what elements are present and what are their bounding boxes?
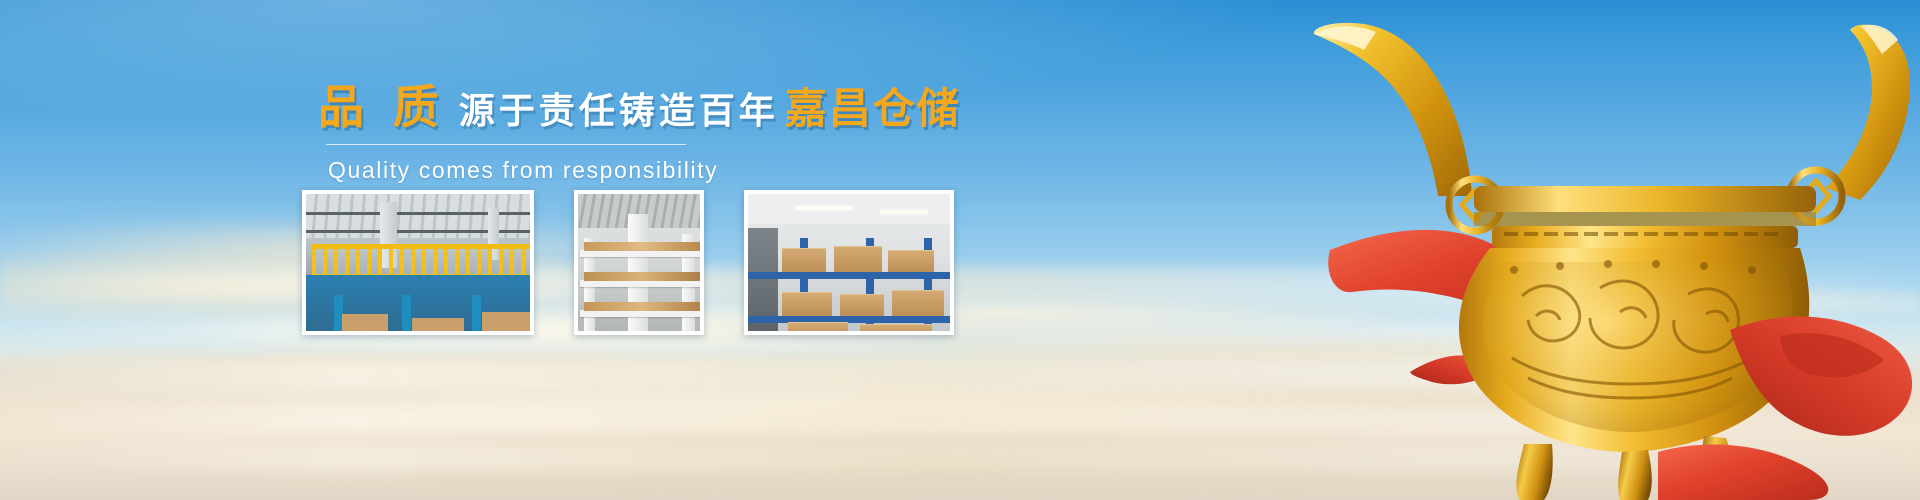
cantilever-arm	[580, 310, 704, 317]
carton	[840, 294, 884, 316]
ceiling-light	[880, 210, 928, 214]
ding-rim	[1474, 186, 1816, 212]
rack-post	[472, 295, 481, 335]
cantilever-arm	[580, 280, 704, 287]
photo-warehouse-mezzanine[interactable]	[302, 190, 534, 335]
cantilever-arm	[580, 250, 704, 257]
carton	[888, 250, 934, 272]
headline-main: 源于责任铸造百年	[459, 93, 779, 129]
hero-banner: 品 质 源于责任铸造百年 嘉昌仓储 Quality comes from res…	[0, 0, 1920, 500]
red-silk-ribbon	[1658, 445, 1828, 500]
stored-load	[584, 272, 700, 281]
headline-row: 品 质 源于责任铸造百年 嘉昌仓储	[318, 84, 1018, 130]
stored-load	[584, 302, 700, 311]
stored-load	[584, 242, 700, 251]
photo-cantilever-racking[interactable]	[574, 190, 704, 335]
ding-handle-left	[1314, 23, 1472, 196]
ding-handle-right	[1826, 25, 1910, 200]
stored-carton	[482, 312, 530, 335]
photo-shelving-cartons[interactable]	[744, 190, 954, 335]
stored-carton	[342, 314, 388, 335]
ding-vessel-icon	[1260, 0, 1920, 500]
shelf-beam	[748, 272, 950, 279]
headline-divider	[326, 144, 686, 145]
carton	[834, 246, 882, 272]
carton	[860, 324, 932, 335]
headline-block: 品 质 源于责任铸造百年 嘉昌仓储 Quality comes from res…	[318, 84, 1018, 184]
brand-name: 嘉昌仓储	[785, 88, 961, 130]
carton	[782, 248, 826, 272]
stored-carton	[412, 318, 464, 335]
headline-emphasis: 品 质	[318, 84, 447, 130]
shelf-beam	[748, 316, 950, 323]
carton	[892, 290, 944, 316]
carton	[782, 292, 832, 316]
ding-leg-left	[1516, 444, 1552, 500]
rack-post	[402, 295, 411, 335]
headline-subtitle: Quality comes from responsibility	[328, 157, 1018, 184]
ding-leg-center	[1618, 450, 1652, 500]
carton	[788, 322, 848, 335]
ding-neck	[1492, 226, 1798, 248]
ceiling-light	[796, 206, 852, 210]
golden-ding-decoration	[1260, 0, 1920, 500]
photo-strip	[302, 190, 954, 335]
